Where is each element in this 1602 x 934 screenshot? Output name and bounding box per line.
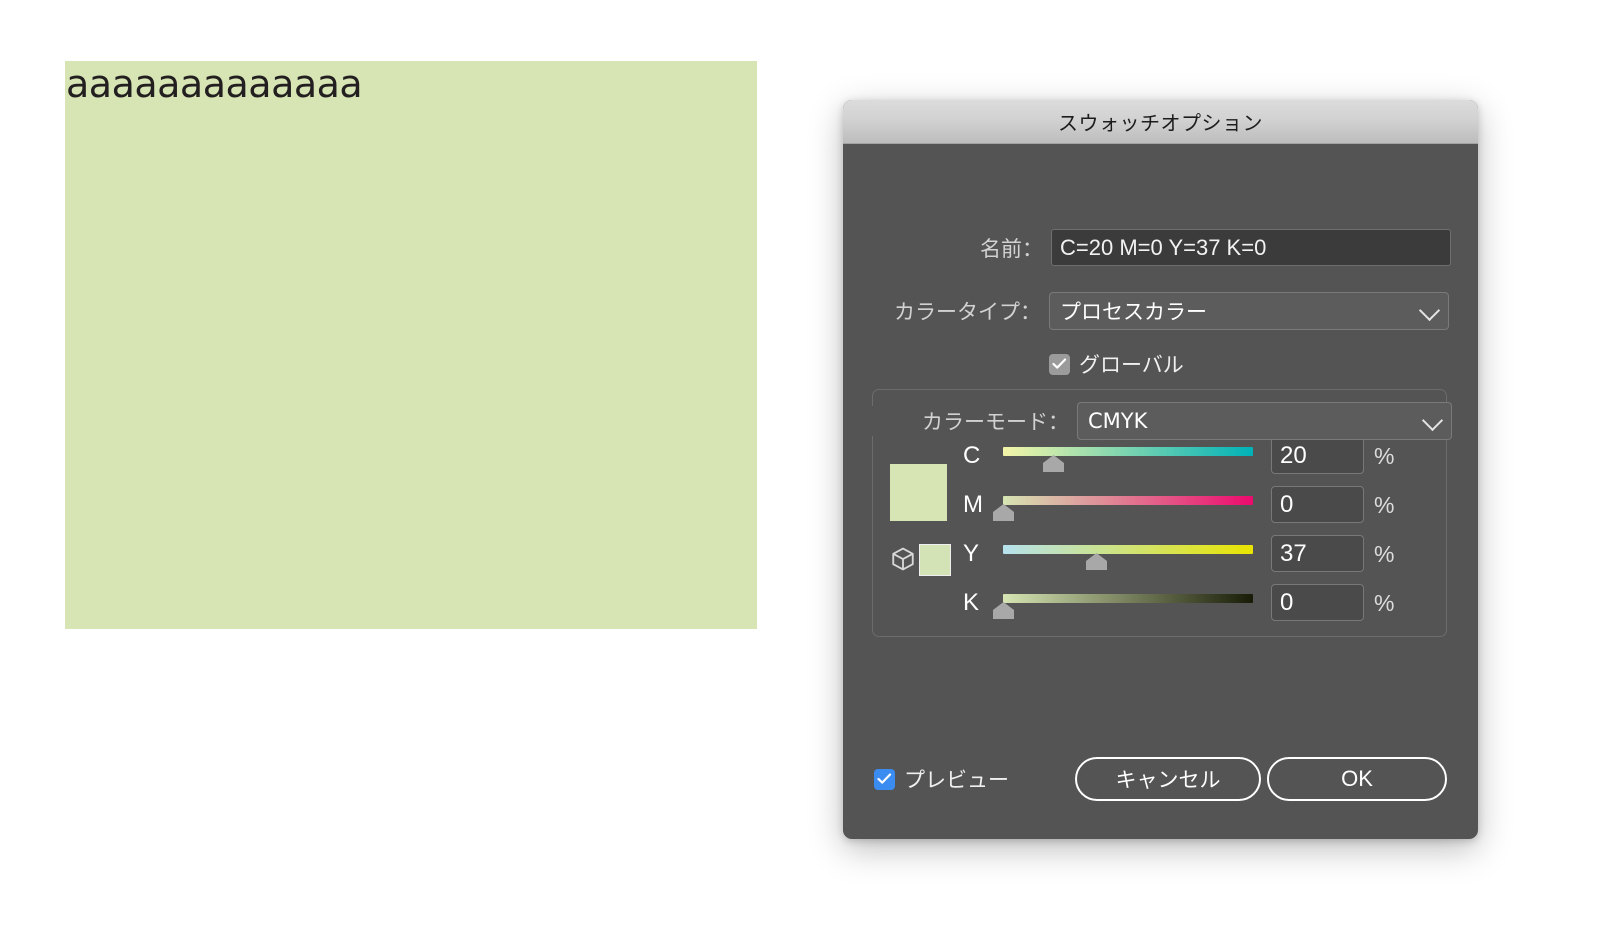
slider-row-c: C 20 % (843, 442, 1478, 470)
color-mode-row: カラーモード： CMYK (843, 402, 1478, 440)
color-type-select[interactable]: プロセスカラー (1049, 292, 1449, 330)
color-mode-select[interactable]: CMYK (1077, 402, 1452, 440)
channel-label-m: M (963, 491, 989, 519)
slider-track-wrap-k[interactable] (1003, 589, 1253, 617)
slider-track-y[interactable] (1003, 545, 1253, 554)
percent-symbol-y: % (1374, 541, 1394, 568)
channel-value-k[interactable]: 0 (1271, 584, 1364, 621)
checkmark-icon (1052, 358, 1067, 370)
swatch-options-dialog: スウォッチオプション 名前： C=20 M=0 Y=37 K=0 カラータイプ：… (843, 100, 1478, 839)
chevron-down-icon (1422, 410, 1443, 431)
dialog-footer: プレビュー キャンセル OK (843, 744, 1478, 814)
color-type-row: カラータイプ： プロセスカラー (843, 292, 1478, 330)
ok-button[interactable]: OK (1267, 757, 1447, 801)
global-label: グローバル (1079, 349, 1184, 379)
percent-symbol-c: % (1374, 443, 1394, 470)
artwork-text[interactable]: aaaaaaaaaaaaa (66, 62, 362, 106)
dialog-body: 名前： C=20 M=0 Y=37 K=0 カラータイプ： プロセスカラー グロ… (843, 144, 1478, 839)
slider-thumb-y[interactable] (1086, 553, 1107, 570)
slider-track-wrap-y[interactable] (1003, 540, 1253, 568)
percent-symbol-m: % (1374, 492, 1394, 519)
channel-label-y: Y (963, 540, 989, 568)
chevron-down-icon (1419, 300, 1440, 321)
color-mode-label: カラーモード： (843, 406, 1069, 436)
preview-label: プレビュー (904, 764, 1009, 794)
color-type-label: カラータイプ： (843, 296, 1041, 326)
channel-value-y[interactable]: 37 (1271, 535, 1364, 572)
preview-checkbox[interactable] (874, 769, 895, 790)
slider-thumb-c[interactable] (1043, 455, 1064, 472)
cmyk-sliders: C 20 % M 0 (843, 442, 1478, 647)
percent-symbol-k: % (1374, 590, 1394, 617)
slider-track-wrap-m[interactable] (1003, 491, 1253, 519)
color-type-value: プロセスカラー (1060, 296, 1207, 326)
slider-track-k[interactable] (1003, 594, 1253, 603)
checkmark-icon (877, 773, 892, 785)
channel-label-k: K (963, 589, 989, 617)
color-mode-value: CMYK (1088, 409, 1147, 433)
slider-row-m: M 0 % (843, 491, 1478, 519)
slider-track-c[interactable] (1003, 447, 1253, 456)
artwork-rectangle[interactable] (65, 61, 757, 629)
preview-checkbox-group[interactable]: プレビュー (874, 764, 1009, 794)
channel-value-c[interactable]: 20 (1271, 437, 1364, 474)
slider-track-wrap-c[interactable] (1003, 442, 1253, 470)
name-label: 名前： (843, 233, 1043, 263)
slider-row-y: Y 37 % (843, 540, 1478, 568)
slider-track-m[interactable] (1003, 496, 1253, 505)
global-checkbox[interactable] (1049, 354, 1070, 375)
slider-row-k: K 0 % (843, 589, 1478, 617)
dialog-title: スウォッチオプション (1058, 107, 1263, 136)
global-row: グローバル (843, 349, 1478, 379)
slider-thumb-k[interactable] (993, 602, 1014, 619)
slider-thumb-m[interactable] (993, 504, 1014, 521)
channel-value-m[interactable]: 0 (1271, 486, 1364, 523)
dialog-titlebar[interactable]: スウォッチオプション (843, 100, 1478, 144)
channel-label-c: C (963, 442, 989, 470)
swatch-name-input[interactable]: C=20 M=0 Y=37 K=0 (1051, 229, 1451, 266)
cancel-button[interactable]: キャンセル (1075, 757, 1261, 801)
name-row: 名前： C=20 M=0 Y=37 K=0 (843, 229, 1478, 266)
